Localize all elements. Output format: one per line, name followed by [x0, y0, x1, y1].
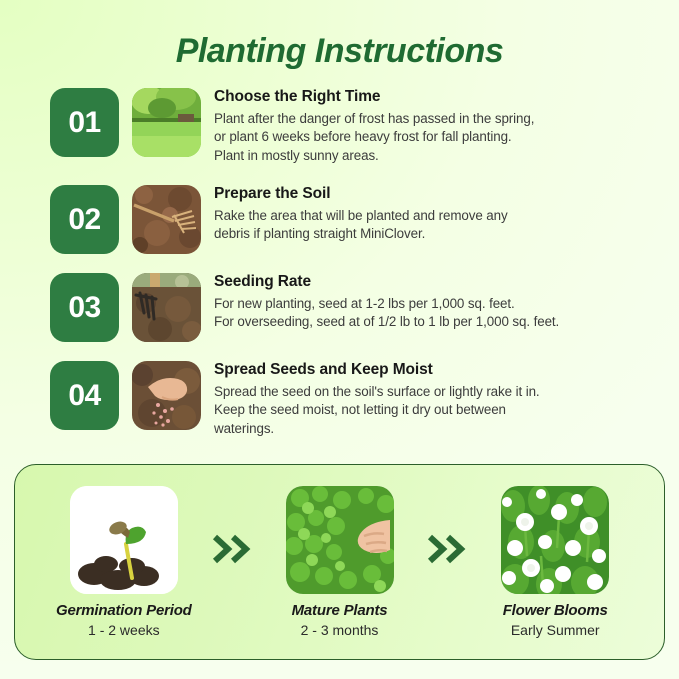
double-chevron-right-icon: [207, 534, 257, 564]
step-number-badge: 04: [50, 361, 119, 430]
step-line: Rake the area that will be planted and r…: [214, 207, 508, 226]
timeline-stage: Germination Period 1 - 2 weeks: [41, 486, 207, 639]
step-text-block: Spread Seeds and Keep Moist Spread the s…: [214, 359, 540, 438]
step-text-block: Choose the Right Time Plant after the da…: [214, 86, 534, 165]
step-line: or plant 6 weeks before heavy frost for …: [214, 128, 534, 147]
timeline-stage: Mature Plants 2 - 3 months: [257, 486, 423, 639]
double-chevron-right-icon: [422, 534, 472, 564]
stage-title: Germination Period: [41, 602, 207, 620]
step-title: Seeding Rate: [214, 272, 559, 291]
step-item: 01 Choose the Right Time Plant after the…: [50, 86, 659, 165]
garden-fork-in-soil-photo: [132, 273, 201, 342]
stage-duration: 1 - 2 weeks: [41, 622, 207, 639]
page-title: Planting Instructions: [0, 0, 679, 70]
steps-list: 01 Choose the Right Time Plant after the…: [0, 86, 679, 438]
hand-spreading-seeds-photo: [132, 361, 201, 430]
step-line: For new planting, seed at 1-2 lbs per 1,…: [214, 295, 559, 314]
step-line: Plant after the danger of frost has pass…: [214, 110, 534, 129]
white-clover-flowers-photo: [501, 486, 609, 594]
step-line: waterings.: [214, 420, 540, 439]
infographic-page: Planting Instructions 01 Choose t: [0, 0, 679, 679]
step-number-badge: 02: [50, 185, 119, 254]
sprouting-seedling-photo: [70, 486, 178, 594]
step-item: 02: [50, 183, 659, 254]
stage-duration: 2 - 3 months: [257, 622, 423, 639]
step-line: Keep the seed moist, not letting it dry …: [214, 401, 540, 420]
step-item: 03: [50, 271, 659, 342]
step-number-badge: 01: [50, 88, 119, 157]
stage-title: Flower Blooms: [472, 602, 638, 620]
clover-leaves-with-hand-photo: [286, 486, 394, 594]
rake-on-soil-photo: [132, 185, 201, 254]
step-number-badge: 03: [50, 273, 119, 342]
step-line: Plant in mostly sunny areas.: [214, 147, 534, 166]
stage-title: Mature Plants: [257, 602, 423, 620]
step-line: For overseeding, seed at of 1/2 lb to 1 …: [214, 313, 559, 332]
step-text-block: Seeding Rate For new planting, seed at 1…: [214, 271, 559, 331]
step-line: debris if planting straight MiniClover.: [214, 225, 508, 244]
step-line: Spread the seed on the soil's surface or…: [214, 383, 540, 402]
stage-duration: Early Summer: [472, 622, 638, 639]
step-title: Prepare the Soil: [214, 184, 508, 203]
growth-timeline-panel: Germination Period 1 - 2 weeks: [14, 464, 665, 660]
step-title: Choose the Right Time: [214, 87, 534, 106]
step-item: 04: [50, 359, 659, 438]
step-text-block: Prepare the Soil Rake the area that will…: [214, 183, 508, 243]
step-title: Spread Seeds and Keep Moist: [214, 360, 540, 379]
timeline-stage: Flower Blooms Early Summer: [472, 486, 638, 639]
lawn-with-trees-photo: [132, 88, 201, 157]
